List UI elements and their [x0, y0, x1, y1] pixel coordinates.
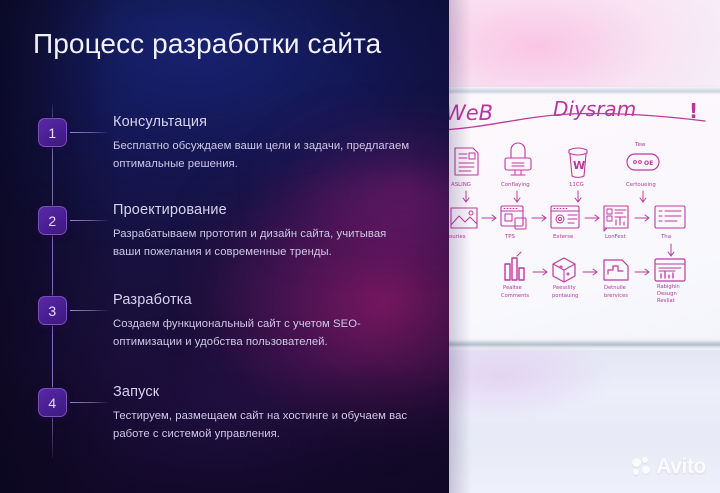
step-body: Проектирование Разрабатываем прототип и … — [113, 202, 413, 262]
svg-text:OE: OE — [644, 160, 653, 167]
bucket-icon: W — [569, 148, 587, 178]
diagram-row2: ouries TPS — [449, 206, 685, 256]
step-body: Разработка Создаем функциональный сайт с… — [113, 292, 413, 352]
row3-label-2a: Peesslity — [553, 285, 576, 291]
photo-left-shade — [449, 0, 471, 493]
row3-label-3a: Detnuile — [604, 285, 626, 291]
row1-top-label: Tew — [634, 142, 646, 148]
step-description: Тестируем, размещаем сайт на хостинге и … — [113, 407, 413, 444]
step-title: Консультация — [113, 114, 413, 130]
row1-label-2: Conflaying — [501, 182, 530, 188]
cube-icon — [553, 258, 575, 282]
avito-watermark: Avito — [632, 455, 706, 479]
whiteboard-diagram-svg: ASLING Conflaying W 11CG — [449, 130, 720, 345]
row3-label-1a: Pealtse — [503, 285, 522, 291]
whiteboard-title-svg: WeB Diysram ! — [449, 94, 720, 134]
row3-label-2b: pontauing — [552, 293, 578, 299]
whiteboard-title-right: Diysram — [553, 97, 636, 121]
avito-logo-icon — [632, 457, 652, 477]
step-title: Проектирование — [113, 202, 413, 218]
row3-label-4c: Revliat — [657, 298, 675, 304]
whiteboard-photo: WeB Diysram ! ASLING — [449, 0, 720, 493]
chart-card-icon — [604, 206, 628, 231]
step-description: Разрабатываем прототип и дизайн сайта, у… — [113, 225, 413, 262]
row3-label-1b: Comments — [501, 293, 529, 299]
step-description: Бесплатно обсуждаем ваши цели и задачи, … — [113, 137, 413, 174]
row1-label-3: 11CG — [569, 182, 584, 188]
whiteboard-top-frame — [449, 87, 720, 94]
report-icon — [655, 259, 685, 281]
window-layers-icon — [501, 206, 526, 229]
flow-folder-icon — [604, 260, 628, 280]
svg-text:W: W — [573, 159, 585, 172]
step-title: Разработка — [113, 292, 413, 308]
diagram-row3: Pealtse Comments Peesslity pontauing — [501, 252, 685, 304]
steps-list: 1 Консультация Бесплатно обсуждаем ваши … — [0, 0, 449, 493]
row3-label-4b: Desugn — [657, 291, 677, 297]
left-content-panel: Процесс разработки сайта 1 Консультация … — [0, 0, 449, 493]
step-body: Консультация Бесплатно обсуждаем ваши це… — [113, 114, 413, 174]
step-title: Запуск — [113, 384, 413, 400]
avito-wordmark: Avito — [656, 455, 706, 479]
step-body: Запуск Тестируем, размещаем сайт на хост… — [113, 384, 413, 444]
step-connector-line — [70, 310, 108, 311]
code-pill-icon: Tew OE — [627, 142, 659, 170]
printer-icon — [505, 143, 531, 175]
row2-label-3: Exterse — [553, 234, 574, 240]
step-connector-line — [70, 402, 108, 403]
step-number-badge: 4 — [38, 388, 67, 417]
row3-label-3b: brervices — [604, 293, 628, 299]
row2-label-5: Tha — [660, 234, 671, 240]
row2-label-4: LonFest — [605, 234, 626, 240]
diagram-row1: ASLING Conflaying W 11CG — [451, 142, 659, 202]
row3-label-4a: Rabighin — [657, 284, 680, 290]
slide-root: Процесс разработки сайта 1 Консультация … — [0, 0, 720, 493]
settings-card-icon — [551, 206, 579, 228]
list-card-icon — [655, 206, 685, 228]
row2-label-2: TPS — [504, 234, 516, 240]
step-number-badge: 2 — [38, 206, 67, 235]
step-number-badge: 3 — [38, 296, 67, 325]
bar-chart-icon — [505, 252, 524, 280]
step-connector-line — [70, 132, 108, 133]
step-connector-line — [70, 220, 108, 221]
row1-label-4: Certoueing — [626, 182, 656, 188]
step-number-badge: 1 — [38, 118, 67, 147]
whiteboard-lower-glow — [449, 348, 609, 418]
step-description: Создаем функциональный сайт с учетом SEO… — [113, 315, 413, 352]
